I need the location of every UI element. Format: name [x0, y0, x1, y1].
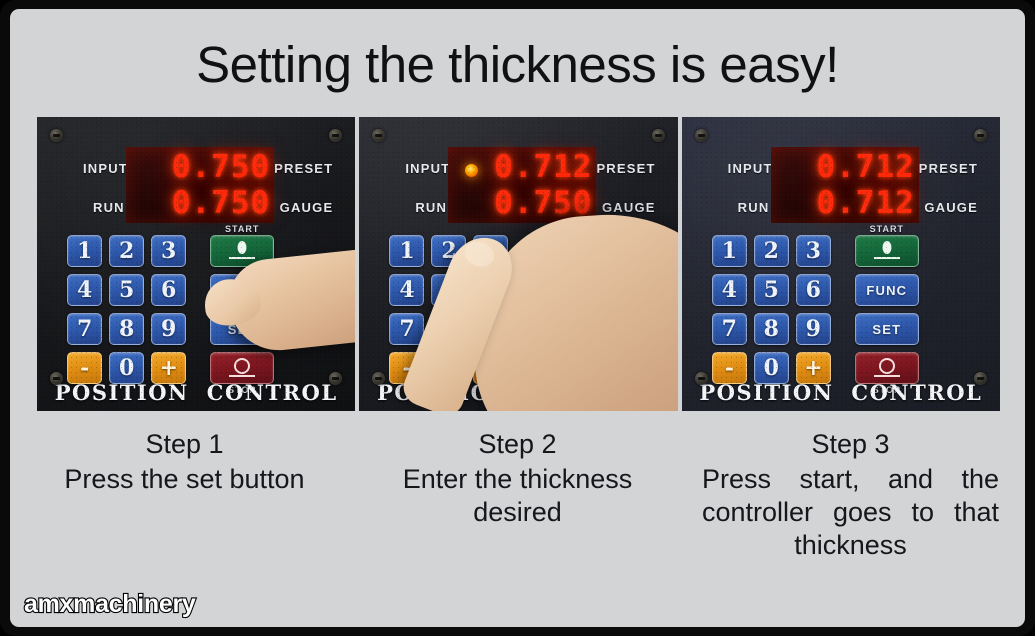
led-window: 0.750 0.750 — [126, 147, 274, 223]
screw-icon — [974, 129, 987, 142]
label-gauge: GAUGE — [602, 200, 656, 215]
screw-icon — [652, 129, 665, 142]
gauge-readout: 0.712 — [816, 186, 914, 220]
label-gauge: GAUGE — [280, 200, 334, 215]
number-keypad: 1 2 3 4 5 6 7 8 9 - 0 + — [712, 235, 831, 384]
panel-step-2: INPUT RUN PRESET GAUGE 0.712 0.750 1 2 3 — [359, 117, 677, 411]
label-input: INPUT — [83, 161, 128, 176]
screw-icon — [652, 372, 665, 385]
stop-icon — [549, 358, 579, 378]
stop-icon — [227, 358, 257, 378]
screw-icon — [695, 372, 708, 385]
function-keypad: START FUNC SET STOP — [855, 235, 919, 384]
set-button[interactable]: SET — [210, 313, 274, 345]
caption-step-3-heading: Step 3 — [688, 429, 1013, 461]
start-icon — [872, 241, 902, 261]
gauge-readout: 0.750 — [494, 186, 592, 220]
set-button[interactable]: SET — [855, 313, 919, 345]
key-8[interactable]: 8 — [109, 313, 144, 345]
label-preset: PRESET — [596, 161, 655, 176]
func-button[interactable]: FUNC — [210, 274, 274, 306]
page-title: Setting the thickness is easy! — [10, 39, 1025, 90]
key-2[interactable]: 2 — [109, 235, 144, 267]
led-display-area: INPUT RUN PRESET GAUGE 0.712 0.750 — [359, 147, 677, 225]
screw-icon — [372, 129, 385, 142]
panel-branding-control: CONTROL — [207, 380, 338, 405]
label-input: INPUT — [728, 161, 773, 176]
panel-branding-control: CONTROL — [851, 380, 982, 405]
led-window: 0.712 0.750 — [448, 147, 596, 223]
caption-step-1-heading: Step 1 — [22, 429, 347, 461]
start-button[interactable]: START — [855, 235, 919, 267]
panel-branding-control: CONTROL — [529, 380, 660, 405]
led-display-area: INPUT RUN PRESET GAUGE 0.712 0.712 — [682, 147, 1000, 225]
label-input: INPUT — [405, 161, 450, 176]
watermark: amxmachinery — [24, 590, 196, 619]
panel-branding-position: POSITION — [699, 380, 833, 405]
key-1[interactable]: 1 — [712, 235, 747, 267]
start-label: START — [225, 224, 259, 234]
panel-branding: POSITIONCONTROL — [37, 380, 355, 405]
screw-icon — [50, 372, 63, 385]
gauge-readout: 0.750 — [172, 186, 270, 220]
key-9[interactable]: 9 — [796, 313, 831, 345]
caption-step-2-body: Enter the thickness desired — [355, 463, 680, 529]
label-run: RUN — [415, 200, 447, 215]
function-keypad: START FUNC SET STOP — [210, 235, 274, 384]
caption-row: Step 1 Press the set button Step 2 Enter… — [22, 429, 1013, 562]
key-2[interactable]: 2 — [754, 235, 789, 267]
key-6[interactable]: 6 — [151, 274, 186, 306]
poster-canvas: Setting the thickness is easy! INPUT RUN… — [10, 9, 1025, 627]
label-gauge: GAUGE — [924, 200, 978, 215]
screw-icon — [329, 129, 342, 142]
preset-readout: 0.712 — [816, 150, 914, 184]
key-4[interactable]: 4 — [67, 274, 102, 306]
keypad: 1 2 3 4 5 6 7 8 9 - 0 + — [67, 235, 325, 384]
key-1[interactable]: 1 — [389, 235, 424, 267]
led-display-area: INPUT RUN PRESET GAUGE 0.750 0.750 — [37, 147, 355, 225]
key-8[interactable]: 8 — [754, 313, 789, 345]
key-7[interactable]: 7 — [712, 313, 747, 345]
panel-branding-position: POSITION — [55, 380, 189, 405]
screw-icon — [50, 129, 63, 142]
caption-step-1: Step 1 Press the set button — [22, 429, 347, 562]
label-run: RUN — [93, 200, 125, 215]
function-keypad: START FUNC SET STOP — [532, 235, 596, 384]
key-4[interactable]: 4 — [712, 274, 747, 306]
start-label: START — [870, 224, 904, 234]
start-icon — [549, 241, 579, 261]
key-4[interactable]: 4 — [389, 274, 424, 306]
key-3[interactable]: 3 — [151, 235, 186, 267]
start-button[interactable]: START — [532, 235, 596, 267]
keypad: 1 2 3 4 5 6 7 8 9 - 0 + — [712, 235, 970, 384]
label-run: RUN — [738, 200, 770, 215]
preset-readout: 0.712 — [494, 150, 592, 184]
key-7[interactable]: 7 — [67, 313, 102, 345]
screw-icon — [974, 372, 987, 385]
preset-readout: 0.750 — [172, 150, 270, 184]
stop-icon — [872, 358, 902, 378]
caption-step-1-body: Press the set button — [22, 463, 347, 496]
key-1[interactable]: 1 — [67, 235, 102, 267]
caption-step-2: Step 2 Enter the thickness desired — [355, 429, 680, 562]
caption-step-3-body: Press start, and the controller goes to … — [688, 463, 1013, 562]
led-window: 0.712 0.712 — [771, 147, 919, 223]
start-icon — [227, 241, 257, 261]
panel-step-1: INPUT RUN PRESET GAUGE 0.750 0.750 1 2 3… — [37, 117, 355, 411]
key-5[interactable]: 5 — [754, 274, 789, 306]
panel-branding: POSITIONCONTROL — [682, 380, 1000, 405]
panel-step-3: INPUT RUN PRESET GAUGE 0.712 0.712 1 2 3… — [682, 117, 1000, 411]
screw-icon — [695, 129, 708, 142]
caption-step-3: Step 3 Press start, and the controller g… — [688, 429, 1013, 562]
key-5[interactable]: 5 — [109, 274, 144, 306]
key-9[interactable]: 9 — [151, 313, 186, 345]
label-preset: PRESET — [919, 161, 978, 176]
start-label: START — [547, 224, 581, 234]
key-3[interactable]: 3 — [796, 235, 831, 267]
start-button[interactable]: START — [210, 235, 274, 267]
image-frame: Setting the thickness is easy! INPUT RUN… — [0, 0, 1035, 636]
label-preset: PRESET — [274, 161, 333, 176]
input-indicator-led — [465, 164, 478, 177]
panel-strip: INPUT RUN PRESET GAUGE 0.750 0.750 1 2 3… — [37, 117, 1000, 411]
caption-step-2-heading: Step 2 — [355, 429, 680, 461]
func-button[interactable]: FUNC — [532, 274, 596, 306]
number-keypad: 1 2 3 4 5 6 7 8 9 - 0 + — [67, 235, 186, 384]
set-button[interactable]: SET — [532, 313, 596, 345]
key-6[interactable]: 6 — [796, 274, 831, 306]
func-button[interactable]: FUNC — [855, 274, 919, 306]
